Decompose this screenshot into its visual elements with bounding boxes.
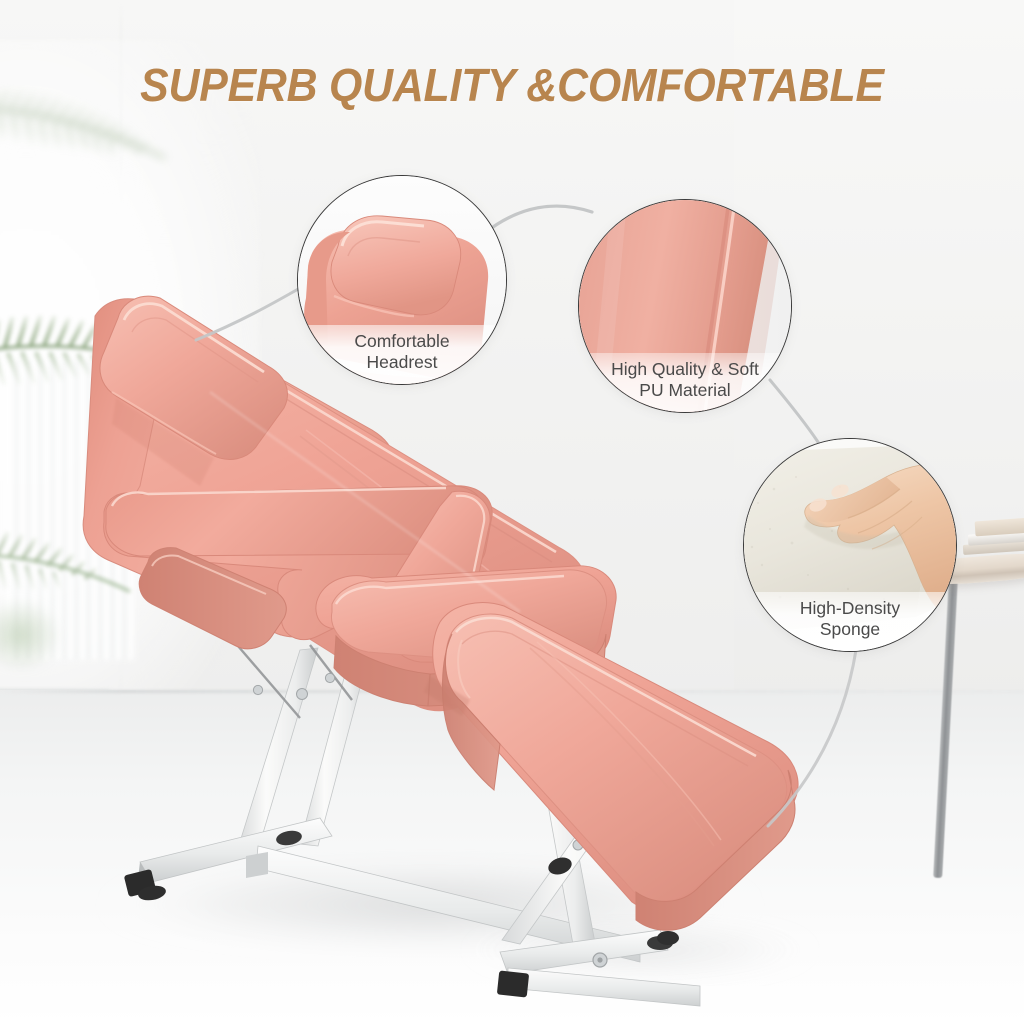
page-title: SUPERB QUALITY &COMFORTABLE <box>36 62 988 108</box>
callout-headrest-line1: Comfortable <box>297 331 507 353</box>
callout-pu-material-caption: High Quality & Soft PU Material <box>578 353 792 412</box>
callout-pu-material-line2: PU Material <box>578 380 792 402</box>
callout-sponge-line1: High-Density <box>743 598 957 620</box>
callout-sponge-caption: High-Density Sponge <box>743 592 957 651</box>
callout-headrest[interactable]: Comfortable Headrest <box>297 175 507 385</box>
callout-sponge[interactable]: High-Density Sponge <box>743 438 957 652</box>
callout-pu-material[interactable]: High Quality & Soft PU Material <box>578 199 792 413</box>
product-feature-banner: SUPERB QUALITY &COMFORTABLE <box>0 0 1024 1024</box>
callout-pu-material-line1: High Quality & Soft <box>578 359 792 381</box>
callout-headrest-line2: Headrest <box>297 352 507 374</box>
callout-headrest-caption: Comfortable Headrest <box>297 325 507 384</box>
callout-sponge-line2: Sponge <box>743 619 957 641</box>
